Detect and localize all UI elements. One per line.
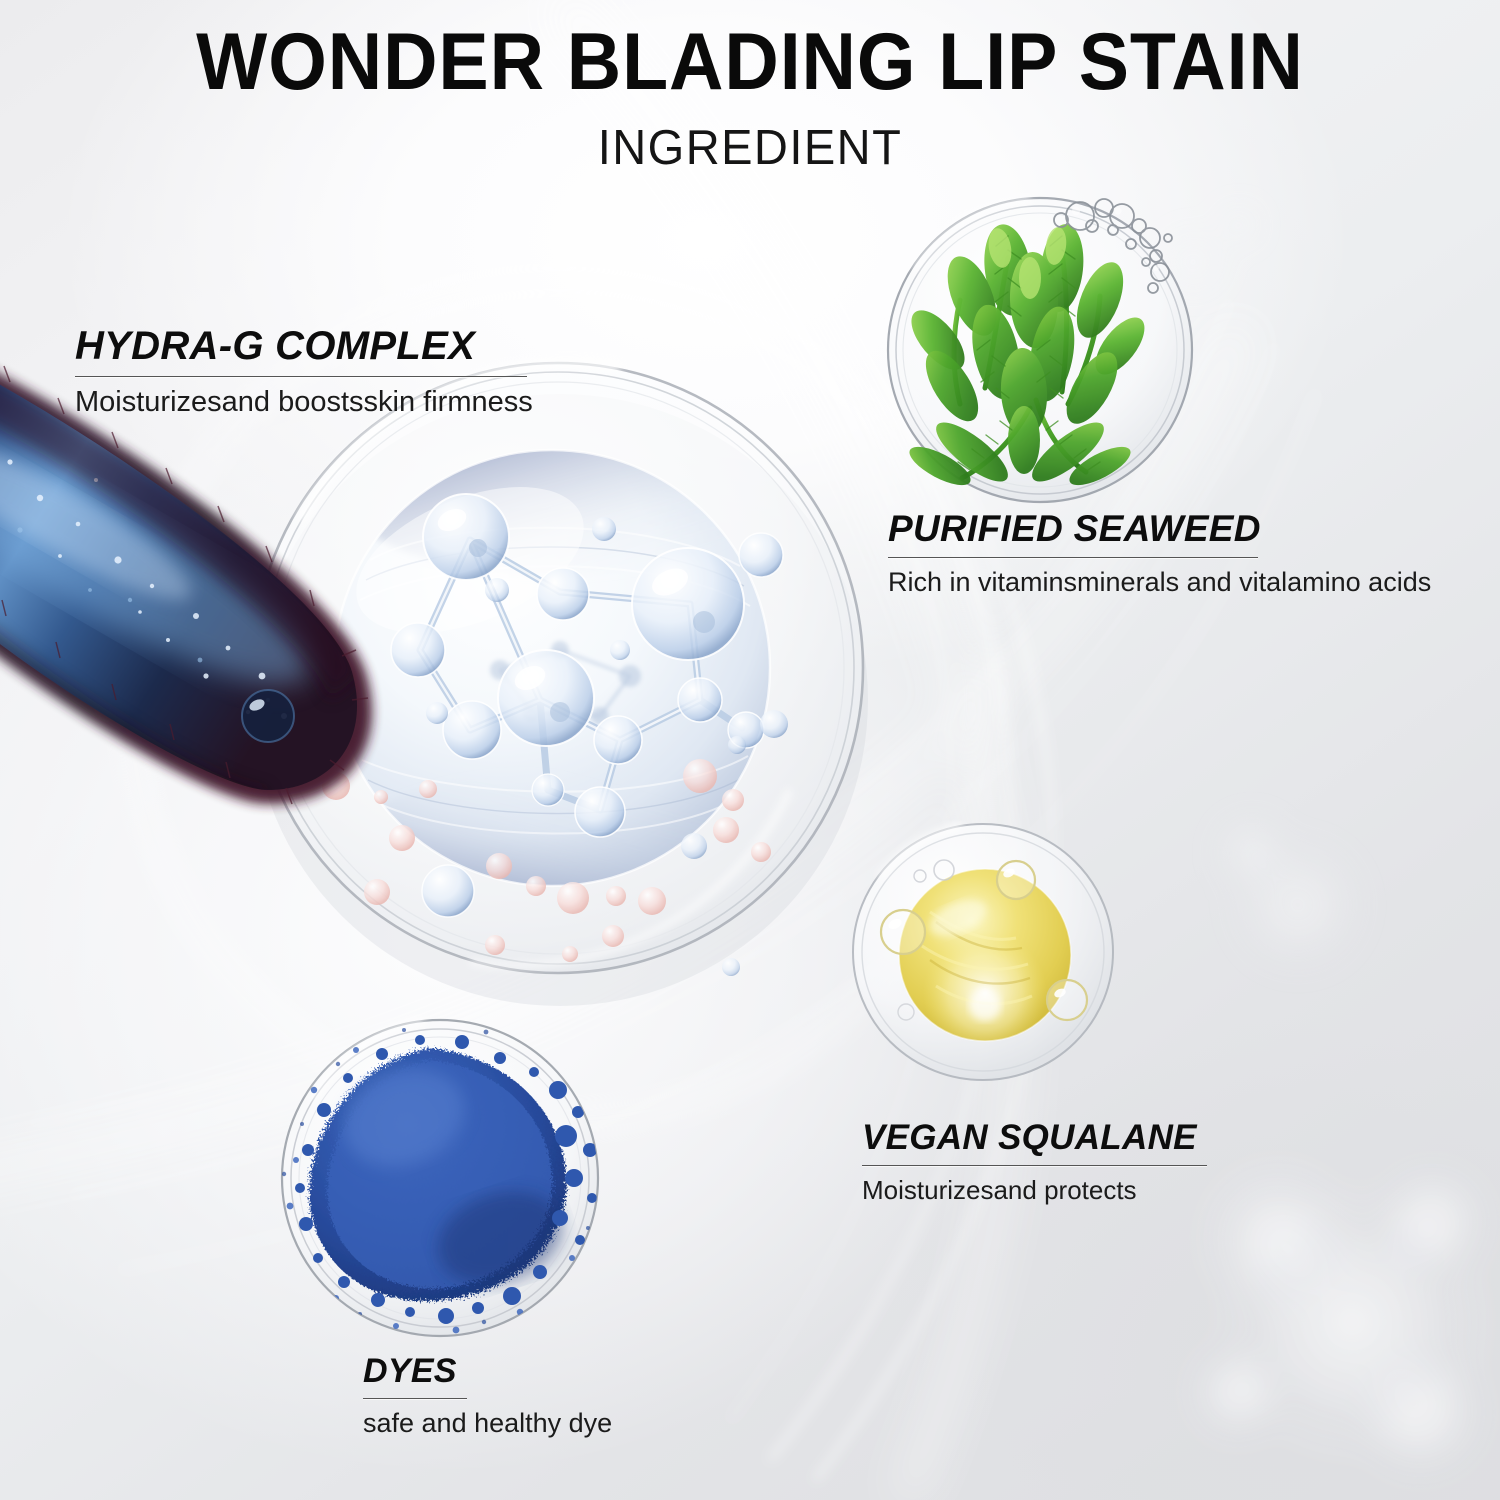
ingredient-name-hydra-g-complex: HYDRA-G COMPLEX (75, 324, 533, 369)
ingredient-rule (363, 1398, 467, 1399)
ingredient-rule (862, 1165, 1207, 1166)
page-subtitle: INGREDIENT (30, 124, 1470, 173)
ingredient-name-purified-seaweed: PURIFIED SEAWEED (888, 508, 1431, 550)
page-title: WONDER BLADING LIP STAIN (53, 22, 1448, 103)
ingredient-name-dyes: DYES (363, 1352, 612, 1391)
ingredient-block-purified-seaweed: PURIFIED SEAWEED Rich in vitaminsmineral… (888, 508, 1431, 598)
ingredient-description-vegan-squalane: Moisturizesand protects (862, 1175, 1207, 1206)
ingredient-block-dyes: DYES safe and healthy dye (363, 1352, 612, 1439)
ingredient-description-hydra-g-complex: Moisturizesand boostsskin firmness (75, 386, 533, 419)
ingredient-block-vegan-squalane: VEGAN SQUALANE Moisturizesand protects (862, 1118, 1207, 1206)
infographic-canvas: WONDER BLADING LIP STAIN INGREDIENT HYDR… (0, 0, 1500, 1500)
ingredient-block-hydra-g-complex: HYDRA-G COMPLEX Moisturizesand boostsski… (75, 324, 533, 419)
ingredient-description-dyes: safe and healthy dye (363, 1408, 612, 1439)
ingredient-description-purified-seaweed: Rich in vitaminsminerals and vitalamino … (888, 567, 1431, 598)
ingredient-rule (75, 376, 527, 377)
ingredient-rule (888, 557, 1258, 558)
ingredient-name-vegan-squalane: VEGAN SQUALANE (862, 1118, 1207, 1158)
dyes-visual (0, 0, 1500, 1500)
